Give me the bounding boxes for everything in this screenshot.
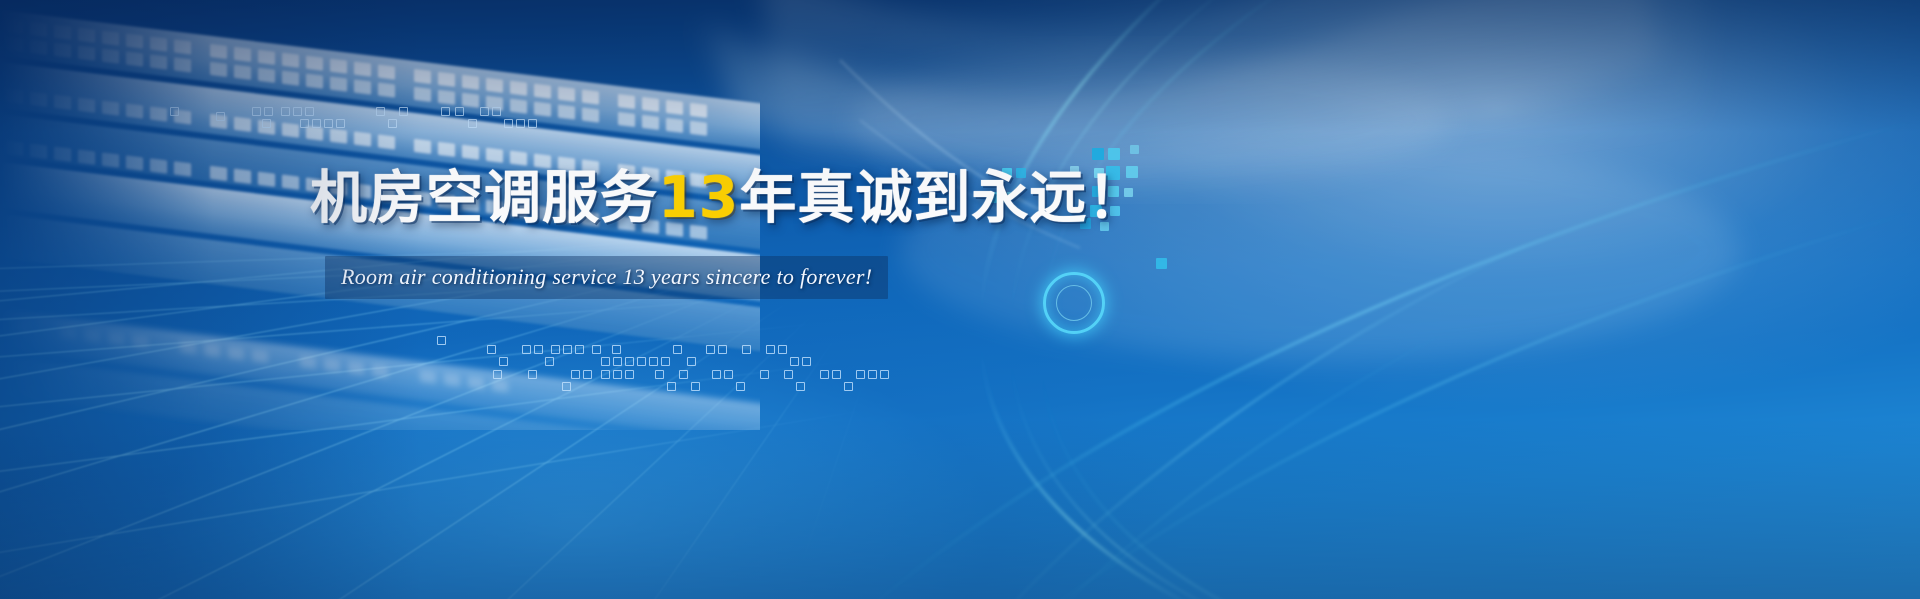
headline-highlight-years: 13 [658,165,739,231]
glow-ring [1043,272,1105,334]
blue-network-cables [0,430,600,599]
subtitle-band: Room air conditioning service 13 years s… [325,256,888,299]
hero-banner: 机房空调服务13年真诚到永远！ Room air conditioning se… [0,0,1920,599]
headline-suffix: 年真诚到永远！ [739,165,1145,231]
banner-subtitle: Room air conditioning service 13 years s… [341,264,872,290]
banner-headline: 机房空调服务13年真诚到永远！ [310,168,1145,228]
headline-prefix: 机房空调服务 [310,165,658,231]
